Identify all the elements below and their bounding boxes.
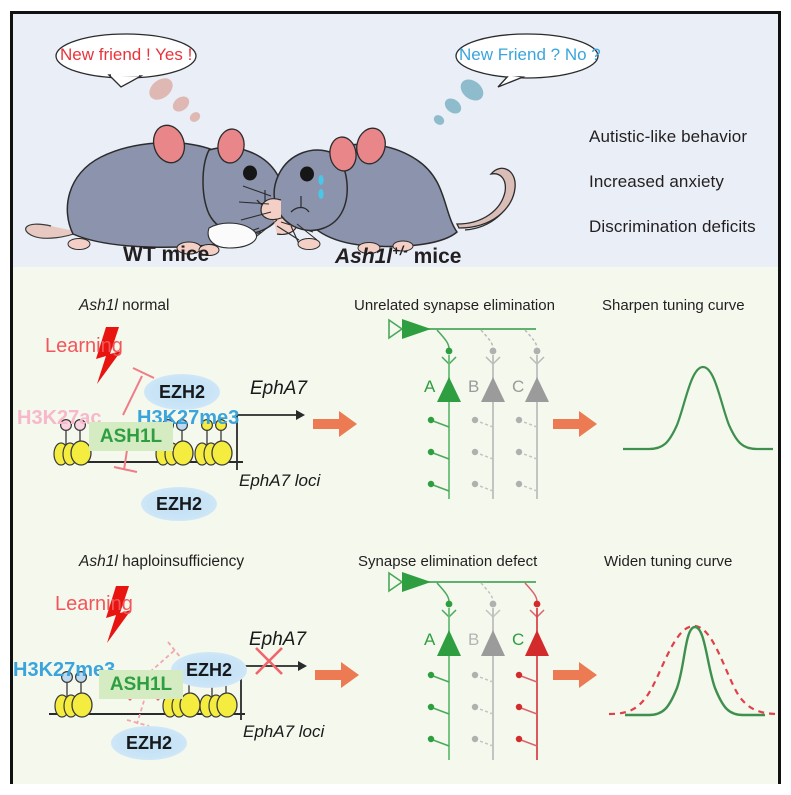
curve-wt-solid [623,367,773,449]
mid-col1-rest: normal [118,297,170,314]
transcription-arrow [237,410,305,470]
ezh2-ellipse-top-mid: EZH2 [144,374,220,410]
bot-col3-title: Widen tuning curve [604,553,732,570]
flow-arrow-4 [553,662,597,688]
panel-mouse-phenotype: New friend ! Yes ! New Friend ? No ? WT … [13,14,778,267]
neuron-label-A-mid: A [424,377,435,397]
spines-B [472,417,493,491]
ezh2-bottom-text-mid: EZH2 [156,494,202,515]
ash1l-box-mid: ASH1L [89,422,173,451]
wt-mice-label: WT mice [123,243,209,267]
curve-wt-solid-bot [625,627,765,715]
ephA7-gene-label-bot: EphA7 [249,629,306,651]
widen-tuning-curve-chart [609,626,779,715]
ash1l-het-mice-label: Ash1l+/- mice [335,243,461,269]
sharpen-tuning-curve-chart [623,367,773,449]
spines-C [516,417,537,491]
neuron-circuit-defect [389,572,549,760]
wt-mice-label-text: WT mice [123,243,209,266]
phenotype-item-2: Discrimination deficits [589,217,756,237]
gene-name-italic: Ash1l [335,245,392,268]
flow-arrow-3 [315,662,359,688]
bot-col1-rest: haploinsufficiency [118,553,244,570]
panel-ash1l-normal: Ash1l normal Unrelated synapse eliminati… [13,267,778,524]
spines-B-bot [472,672,493,746]
panel-ash1l-haploinsufficiency: Ash1l haploinsufficiency Synapse elimina… [13,524,778,784]
spines-A-bot [428,672,449,746]
neuron-label-A-bot: A [424,630,435,650]
ezh2-top-text-bot: EZH2 [186,660,232,681]
thought-dots-left [145,74,202,124]
neuron-label-C-bot: C [512,630,524,650]
spines-A [428,417,449,491]
ezh2-ellipse-bottom-bot: EZH2 [111,726,187,760]
phenotype-item-1: Increased anxiety [589,172,724,192]
graphical-abstract-figure: New friend ! Yes ! New Friend ? No ? WT … [0,0,791,795]
ezh2-bottom-text-bot: EZH2 [126,733,172,754]
ephA7-loci-label-mid: EphA7 loci [239,471,320,491]
phenotype-item-0: Autistic-like behavior [589,127,747,147]
curve-het-dashed [609,626,779,714]
mid-col3-title: Sharpen tuning curve [602,297,745,314]
wt-mouse-illustration [26,121,315,255]
thought-dots-right [432,75,487,127]
bot-col1-title: Ash1l haploinsufficiency [79,553,244,571]
ash1l-het-mouse-illustration [239,125,515,253]
speech-bubble-right-text: New Friend ? No ? [459,45,601,65]
bot-col1-gene: Ash1l [79,553,118,570]
ephA7-loci-label-bot: EphA7 loci [243,722,324,742]
ash1l-text-bot: ASH1L [110,674,172,696]
ephA7-gene-label-mid: EphA7 [250,378,307,400]
ezh2-ellipse-bottom-mid: EZH2 [141,487,217,521]
ash1l-box-bot: ASH1L [99,670,183,699]
ash1l-text-mid: ASH1L [100,426,162,448]
figure-frame: New friend ! Yes ! New Friend ? No ? WT … [10,11,781,784]
mid-col1-gene: Ash1l [79,297,118,314]
neuron-circuit-normal [389,319,549,499]
neuron-label-B-bot: B [468,630,479,650]
transcription-blocked-x [256,648,282,674]
flow-arrow-1 [313,411,357,437]
learning-label-mid: Learning [45,335,123,358]
mid-col1-title: Ash1l normal [79,297,169,315]
bot-col2-title: Synapse elimination defect [358,553,537,570]
spines-C-bot [516,672,537,746]
mice-word: mice [408,245,462,268]
mid-col2-title: Unrelated synapse elimination [354,297,555,314]
neuron-label-C-mid: C [512,377,524,397]
learning-label-bot: Learning [55,593,133,616]
speech-bubble-left-text: New friend ! Yes ! [60,45,192,65]
flow-arrow-2 [553,411,597,437]
tear-marks [318,175,323,199]
genotype-superscript: +/- [392,243,408,258]
neuron-label-B-mid: B [468,377,479,397]
ezh2-top-text-mid: EZH2 [159,382,205,403]
transcription-arrow-bot [241,661,307,720]
